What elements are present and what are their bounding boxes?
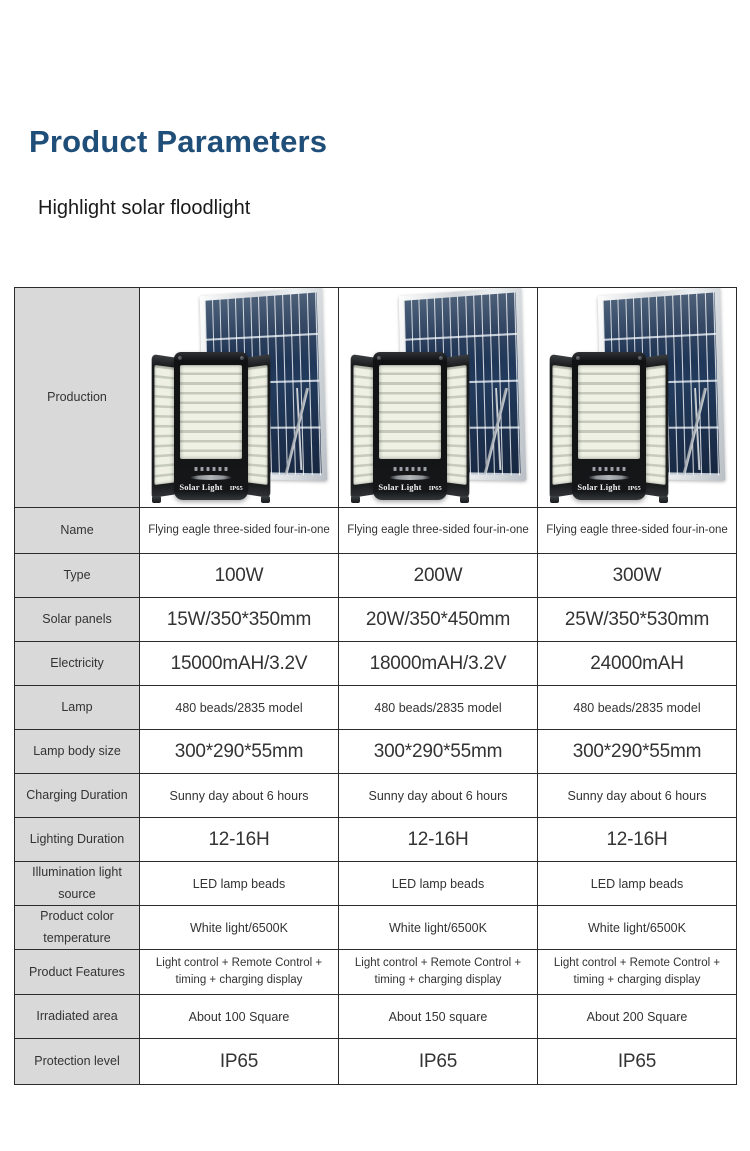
row-label-electricity: Electricity [15, 642, 140, 686]
table-row-product-color-temperature: Product color temperature White light/65… [15, 906, 737, 950]
cell-electricity-200w: 18000mAH/3.2V [339, 642, 538, 686]
table-row-charging-duration: Charging Duration Sunny day about 6 hour… [15, 774, 737, 818]
cell-lighting-300w: 12-16H [538, 818, 737, 862]
lamp-ip-label: IP65 [628, 485, 641, 492]
brand-emblem-icon [389, 475, 431, 480]
cell-protection-300w: IP65 [538, 1039, 737, 1085]
cell-features-200w: Light control + Remote Control + timing … [339, 950, 538, 995]
row-label-lighting-duration: Lighting Duration [15, 818, 140, 862]
cell-name-300w: Flying eagle three-sided four-in-one [538, 508, 737, 554]
row-label-irradiated-area: Irradiated area [15, 995, 140, 1039]
cell-electricity-300w: 24000mAH [538, 642, 737, 686]
cell-type-200w: 200W [339, 554, 538, 598]
cell-area-200w: About 150 square [339, 995, 538, 1039]
cell-lamp-300w: 480 beads/2835 model [538, 686, 737, 730]
cell-charging-300w: Sunny day about 6 hours [538, 774, 737, 818]
cell-illumination-200w: LED lamp beads [339, 862, 538, 906]
table-row-production: Production [15, 288, 737, 508]
cell-solar-100w: 15W/350*350mm [140, 598, 339, 642]
cell-area-300w: About 200 Square [538, 995, 737, 1039]
cell-area-100w: About 100 Square [140, 995, 339, 1039]
cell-body-100w: 300*290*55mm [140, 730, 339, 774]
table-row-name: Name Flying eagle three-sided four-in-on… [15, 508, 737, 554]
row-label-product-features: Product Features [15, 950, 140, 995]
floodlight-body: Solar Light IP65 [546, 352, 672, 500]
table-row-lamp-body-size: Lamp body size 300*290*55mm 300*290*55mm… [15, 730, 737, 774]
cell-illumination-100w: LED lamp beads [140, 862, 339, 906]
cell-lighting-100w: 12-16H [140, 818, 339, 862]
row-label-protection-level: Protection level [15, 1039, 140, 1085]
table-row-type: Type 100W 200W 300W [15, 554, 737, 598]
product-photo: Solar Light IP65 [146, 292, 332, 504]
product-parameters-table: Production [14, 287, 737, 1085]
table-row-irradiated-area: Irradiated area About 100 Square About 1… [15, 995, 737, 1039]
table-row-lamp: Lamp 480 beads/2835 model 480 beads/2835… [15, 686, 737, 730]
row-label-type: Type [15, 554, 140, 598]
cell-electricity-100w: 15000mAH/3.2V [140, 642, 339, 686]
lamp-ip-label: IP65 [230, 485, 243, 492]
brand-emblem-icon [190, 475, 232, 480]
row-label-production: Production [15, 288, 140, 508]
cell-protection-200w: IP65 [339, 1039, 538, 1085]
table-row-product-features: Product Features Light control + Remote … [15, 950, 737, 995]
row-label-solar-panels: Solar panels [15, 598, 140, 642]
cell-name-100w: Flying eagle three-sided four-in-one [140, 508, 339, 554]
product-image-cell-100w: Solar Light IP65 [140, 288, 339, 508]
row-label-lamp-body-size: Lamp body size [15, 730, 140, 774]
cell-body-300w: 300*290*55mm [538, 730, 737, 774]
cell-type-100w: 100W [140, 554, 339, 598]
product-image-cell-200w: Solar Light IP65 [339, 288, 538, 508]
cell-features-300w: Light control + Remote Control + timing … [538, 950, 737, 995]
cell-illumination-300w: LED lamp beads [538, 862, 737, 906]
page-subtitle: Highlight solar floodlight [38, 197, 250, 220]
cell-protection-100w: IP65 [140, 1039, 339, 1085]
cell-lighting-200w: 12-16H [339, 818, 538, 862]
cell-charging-100w: Sunny day about 6 hours [140, 774, 339, 818]
table-row-protection-level: Protection level IP65 IP65 IP65 [15, 1039, 737, 1085]
row-label-name: Name [15, 508, 140, 554]
cell-solar-300w: 25W/350*530mm [538, 598, 737, 642]
page-title: Product Parameters [29, 124, 327, 160]
product-image-cell-300w: Solar Light IP65 [538, 288, 737, 508]
cell-body-200w: 300*290*55mm [339, 730, 538, 774]
indicator-leds-icon [394, 467, 427, 471]
table-row-lighting-duration: Lighting Duration 12-16H 12-16H 12-16H [15, 818, 737, 862]
brand-emblem-icon [588, 475, 630, 480]
row-label-illumination-light-source: Illumination light source [15, 862, 140, 906]
lamp-ip-label: IP65 [429, 485, 442, 492]
floodlight-body: Solar Light IP65 [148, 352, 274, 500]
product-photo: Solar Light IP65 [544, 292, 730, 504]
row-label-product-color-temperature: Product color temperature [15, 906, 140, 950]
indicator-leds-icon [195, 467, 228, 471]
floodlight-body: Solar Light IP65 [347, 352, 473, 500]
table-row-illumination-light-source: Illumination light source LED lamp beads… [15, 862, 737, 906]
cell-temperature-300w: White light/6500K [538, 906, 737, 950]
cell-name-200w: Flying eagle three-sided four-in-one [339, 508, 538, 554]
lamp-brand-label: Solar Light [179, 482, 222, 492]
cell-type-300w: 300W [538, 554, 737, 598]
cell-charging-200w: Sunny day about 6 hours [339, 774, 538, 818]
cell-temperature-200w: White light/6500K [339, 906, 538, 950]
cell-lamp-200w: 480 beads/2835 model [339, 686, 538, 730]
indicator-leds-icon [593, 467, 626, 471]
table-row-electricity: Electricity 15000mAH/3.2V 18000mAH/3.2V … [15, 642, 737, 686]
lamp-brand-label: Solar Light [577, 482, 620, 492]
cell-temperature-100w: White light/6500K [140, 906, 339, 950]
cell-lamp-100w: 480 beads/2835 model [140, 686, 339, 730]
row-label-lamp: Lamp [15, 686, 140, 730]
cell-solar-200w: 20W/350*450mm [339, 598, 538, 642]
row-label-charging-duration: Charging Duration [15, 774, 140, 818]
lamp-brand-label: Solar Light [378, 482, 421, 492]
product-photo: Solar Light IP65 [345, 292, 531, 504]
cell-features-100w: Light control + Remote Control + timing … [140, 950, 339, 995]
table-row-solar-panels: Solar panels 15W/350*350mm 20W/350*450mm… [15, 598, 737, 642]
